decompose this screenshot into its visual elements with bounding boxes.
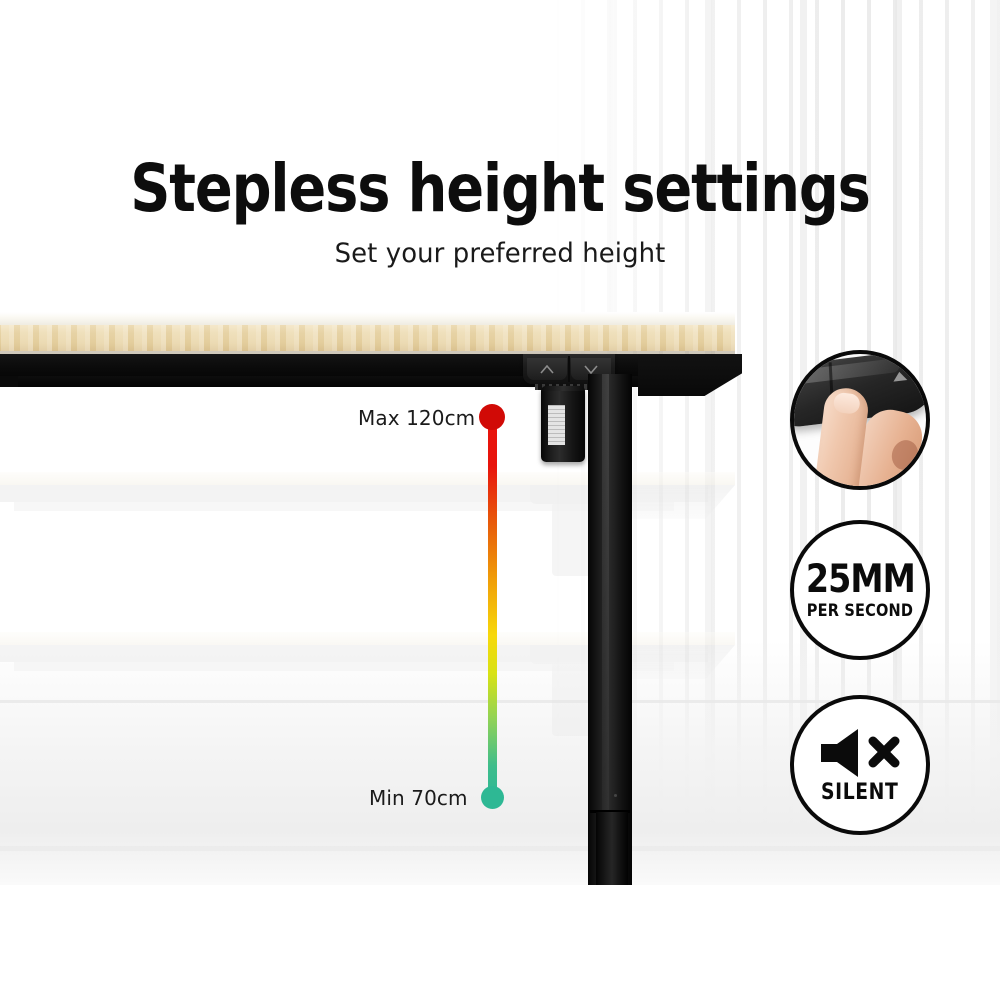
height-range-gradient-bar — [488, 412, 497, 797]
badge-lift-speed: 25MM PER SECOND — [790, 520, 930, 660]
lift-speed-unit: PER SECOND — [807, 603, 913, 620]
lift-motor — [541, 386, 585, 462]
max-height-label: Max 120cm — [358, 406, 475, 430]
chevron-up-icon — [540, 365, 554, 374]
desk-leg-highlight — [602, 374, 609, 885]
lift-speed-value: 25MM — [806, 560, 915, 599]
max-height-marker — [479, 404, 505, 430]
bottom-whitespace — [0, 885, 1000, 1000]
desktop-surface — [0, 312, 735, 325]
product-feature-image: Max 120cm Min 70cm 25MM PER SECOND — [0, 0, 1000, 1000]
chevron-down-icon — [584, 365, 598, 374]
desk-leg-upper — [588, 374, 632, 885]
desk-leg-screw — [614, 794, 617, 797]
min-height-marker — [481, 786, 504, 809]
min-height-label: Min 70cm — [369, 786, 468, 810]
desktop-edge — [0, 325, 735, 351]
page-subtitle: Set your preferred height — [20, 238, 980, 269]
silent-label: SILENT — [821, 782, 898, 804]
desk-leg-lower — [596, 812, 628, 885]
raise-button[interactable] — [527, 358, 567, 380]
desk-photo: Max 120cm Min 70cm 25MM PER SECOND — [0, 0, 1000, 885]
muted-speaker-icon — [817, 727, 903, 779]
motor-cap — [541, 386, 585, 391]
frame-beam-cap — [0, 376, 20, 387]
panel-divider — [568, 356, 570, 382]
badge-one-touch-control — [790, 350, 930, 490]
floor-line — [0, 846, 1000, 851]
motor-label — [548, 405, 565, 445]
badge-silent-operation: SILENT — [790, 695, 930, 835]
page-title: Stepless height settings — [30, 156, 970, 222]
